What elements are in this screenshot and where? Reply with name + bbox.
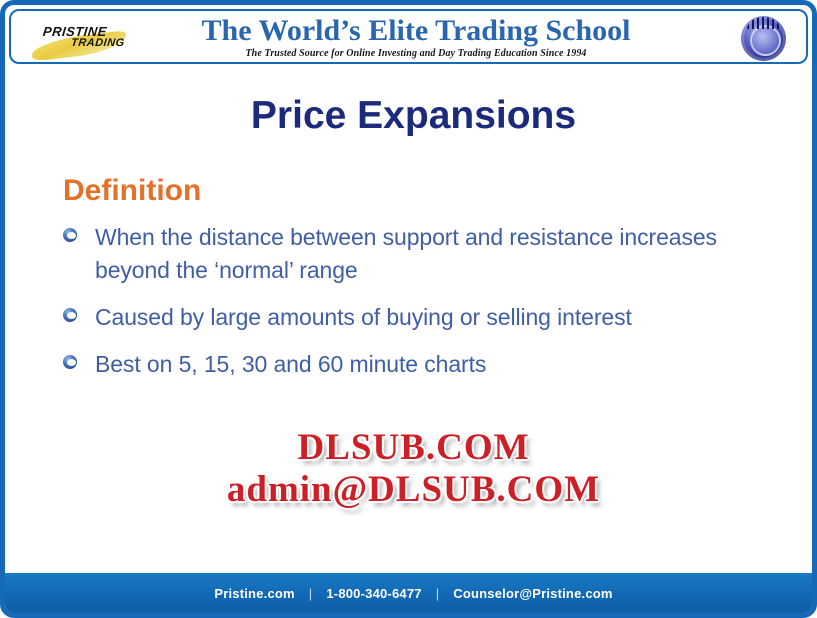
header-tagline: The Trusted Source for Online Investing …: [171, 48, 661, 60]
footer-separator: |: [436, 586, 440, 601]
list-item-label: Caused by large amounts of buying or sel…: [95, 301, 632, 334]
page-title: Price Expansions: [5, 93, 817, 139]
footer-email[interactable]: Counselor@Pristine.com: [453, 586, 612, 601]
list-item-label: Best on 5, 15, 30 and 60 minute charts: [95, 348, 486, 381]
footer-separator: |: [309, 586, 313, 601]
watermark-overlay: DLSUB.COM admin@DLSUB.COM: [5, 429, 817, 510]
list-item: When the distance between support and re…: [63, 221, 743, 287]
logo-line-2: TRADING: [70, 38, 125, 49]
list-item: Best on 5, 15, 30 and 60 minute charts: [63, 348, 743, 381]
bullet-marker-icon: [63, 308, 77, 322]
bullet-marker-icon: [63, 355, 77, 369]
list-item-label: When the distance between support and re…: [95, 221, 743, 287]
presentation-slide: PRISTINE TRADING The World’s Elite Tradi…: [0, 0, 817, 618]
list-item: Caused by large amounts of buying or sel…: [63, 301, 743, 334]
footer-content: Pristine.com | 1-800-340-6477 | Counselo…: [214, 586, 612, 601]
watermark-site: DLSUB.COM: [5, 429, 817, 467]
slide-footer: Pristine.com | 1-800-340-6477 | Counselo…: [5, 573, 817, 613]
header-text-block: The World’s Elite Trading School The Tru…: [171, 15, 661, 60]
slide-header-panel: PRISTINE TRADING The World’s Elite Tradi…: [9, 9, 808, 64]
seal-badge-icon: [741, 16, 786, 61]
section-heading-definition: Definition: [63, 174, 201, 208]
watermark-email: admin@DLSUB.COM: [5, 471, 817, 509]
bullet-list: When the distance between support and re…: [63, 221, 743, 395]
bullet-marker-icon: [63, 228, 77, 242]
footer-phone[interactable]: 1-800-340-6477: [326, 586, 421, 601]
header-title: The World’s Elite Trading School: [171, 15, 661, 47]
pristine-trading-logo: PRISTINE TRADING: [29, 20, 169, 58]
footer-website[interactable]: Pristine.com: [214, 586, 294, 601]
